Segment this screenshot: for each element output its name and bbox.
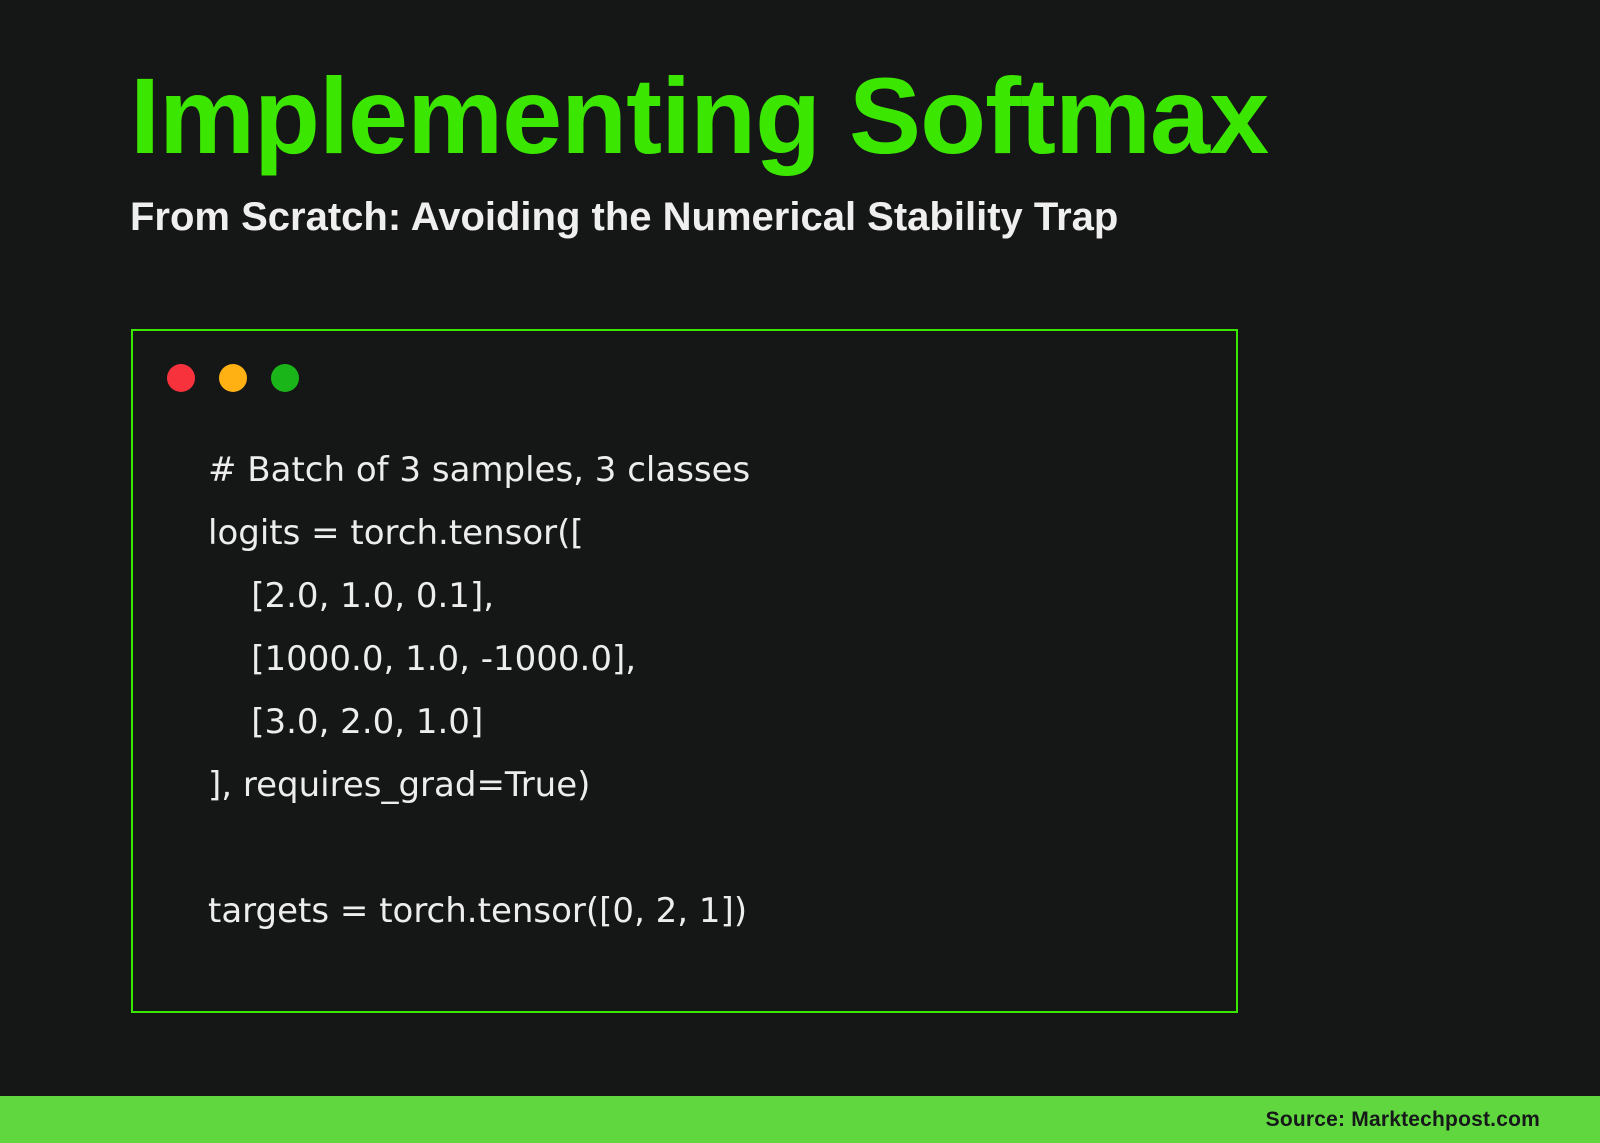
footer-bar: Source: Marktechpost.com [0,1096,1600,1143]
window-controls [167,364,299,392]
code-line: # Batch of 3 samples, 3 classes [208,439,1216,502]
close-button-icon[interactable] [167,364,195,392]
code-line: ], requires_grad=True) [208,754,1216,817]
slide-header: Implementing Softmax From Scratch: Avoid… [130,62,1460,238]
source-attribution: Source: Marktechpost.com [1266,1108,1600,1132]
maximize-button-icon[interactable] [271,364,299,392]
code-line: logits = torch.tensor([ [208,502,1216,565]
code-line: [2.0, 1.0, 0.1], [208,565,1216,628]
code-line: [3.0, 2.0, 1.0] [208,691,1216,754]
code-line: [1000.0, 1.0, -1000.0], [208,628,1216,691]
code-line: targets = torch.tensor([0, 2, 1]) [208,880,1216,943]
code-window: # Batch of 3 samples, 3 classes logits =… [131,329,1238,1013]
code-line-blank [208,817,1216,880]
minimize-button-icon[interactable] [219,364,247,392]
code-block: # Batch of 3 samples, 3 classes logits =… [208,439,1216,943]
page-subtitle: From Scratch: Avoiding the Numerical Sta… [130,196,1460,238]
slide-canvas: Implementing Softmax From Scratch: Avoid… [0,0,1600,1143]
page-title: Implementing Softmax [130,62,1460,170]
